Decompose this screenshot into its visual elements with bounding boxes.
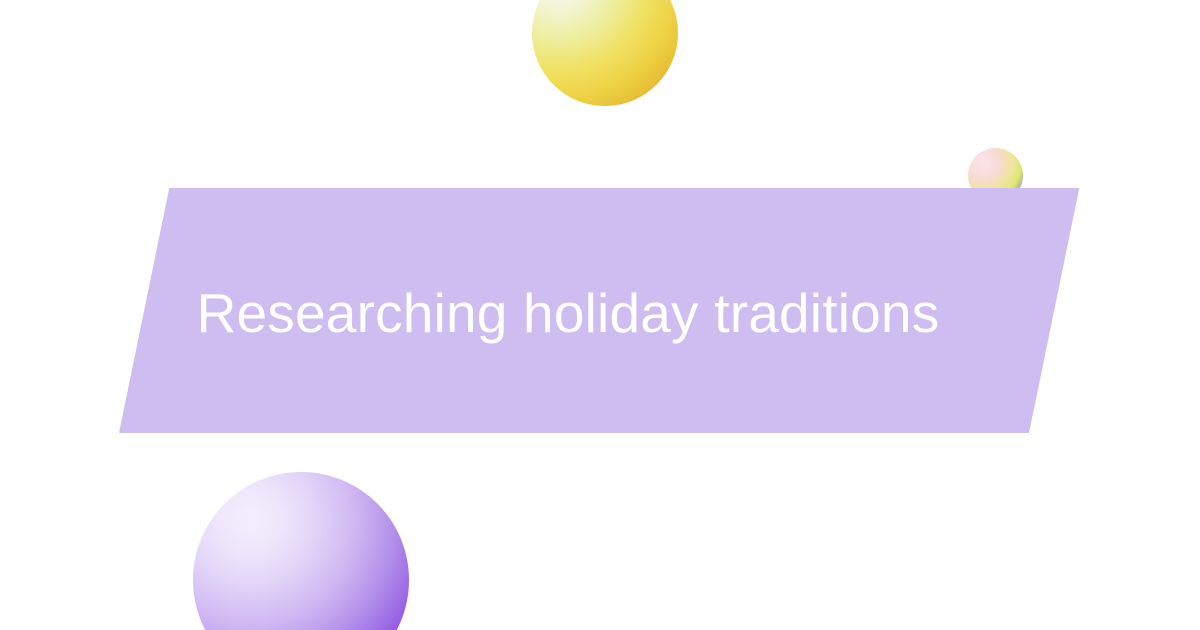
title-banner-content: Researching holiday traditions (119, 188, 1029, 433)
title-banner: Researching holiday traditions (119, 188, 1079, 433)
page-title: Researching holiday traditions (197, 283, 940, 344)
poster-canvas: Researching holiday traditions (0, 0, 1200, 630)
purple-gradient-sphere-icon (193, 472, 409, 630)
yellow-gradient-sphere-icon (532, 0, 678, 106)
